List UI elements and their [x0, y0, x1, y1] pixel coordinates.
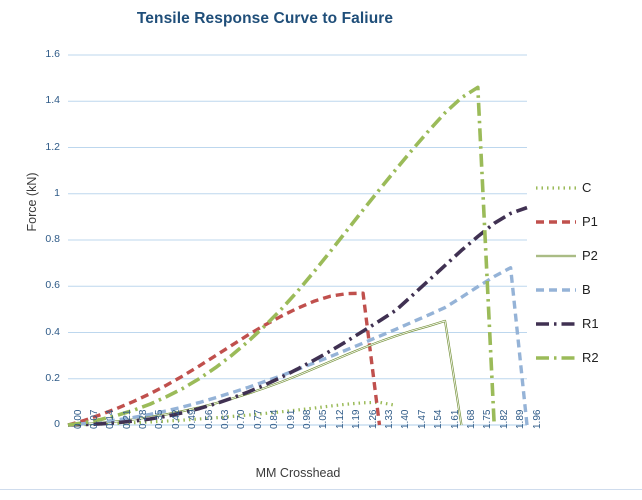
legend-swatch-p1 [535, 215, 577, 227]
x-tick-label: 1.40 [400, 410, 411, 429]
legend-item-r2[interactable]: R2 [535, 340, 635, 374]
x-tick-label: 1.47 [417, 410, 428, 429]
x-tick-label: 1.05 [318, 410, 329, 429]
legend-item-r1[interactable]: R1 [535, 306, 635, 340]
x-tick-label: 1.68 [466, 410, 477, 429]
x-tick-label: 0.07 [89, 410, 100, 429]
y-tick-label: 0.2 [26, 372, 60, 384]
legend-label: R1 [582, 316, 599, 331]
bottom-divider [0, 489, 642, 490]
series-line-r2 [68, 87, 494, 425]
tensile-response-chart: Tensile Response Curve to Faliure Force … [0, 0, 642, 500]
y-tick-label: 1.2 [26, 141, 60, 153]
x-tick-label: 0.28 [138, 410, 149, 429]
x-tick-label: 1.61 [450, 410, 461, 429]
x-tick-label: 1.82 [499, 410, 510, 429]
y-tick-label: 0.6 [26, 279, 60, 291]
x-tick-label: 0.42 [171, 410, 182, 429]
legend-swatch-c [535, 181, 577, 193]
legend-swatch-p2 [535, 249, 577, 261]
x-tick-label: 1.33 [384, 410, 395, 429]
chart-legend: CP1P2BR1R2 [535, 170, 635, 374]
x-tick-label: 1.89 [515, 410, 526, 429]
x-tick-label: 0.56 [204, 410, 215, 429]
x-tick-label: 1.96 [532, 410, 543, 429]
legend-label: P1 [582, 214, 598, 229]
x-tick-label: 0.98 [302, 410, 313, 429]
y-tick-label: 1.4 [26, 94, 60, 106]
legend-item-p1[interactable]: P1 [535, 204, 635, 238]
x-tick-label: 0.84 [269, 410, 280, 429]
x-tick-label: 0.00 [73, 410, 84, 429]
x-tick-label: 0.21 [122, 410, 133, 429]
legend-swatch-r1 [535, 317, 577, 329]
y-tick-label: 0 [26, 418, 60, 430]
series-line-p1 [68, 293, 379, 425]
legend-label: P2 [582, 248, 598, 263]
x-tick-label: 1.54 [433, 410, 444, 429]
x-tick-label: 1.19 [351, 410, 362, 429]
legend-item-p2[interactable]: P2 [535, 238, 635, 272]
x-tick-label: 1.75 [482, 410, 493, 429]
series-layer [68, 87, 527, 425]
legend-swatch-r2 [535, 351, 577, 363]
x-tick-label: 0.14 [105, 410, 116, 429]
y-tick-label: 1 [26, 187, 60, 199]
x-tick-label: 0.63 [220, 410, 231, 429]
x-tick-label: 0.91 [286, 410, 297, 429]
x-tick-label: 0.49 [187, 410, 198, 429]
legend-label: C [582, 180, 591, 195]
legend-item-b[interactable]: B [535, 272, 635, 306]
x-tick-label: 0.35 [154, 410, 165, 429]
x-tick-label: 0.77 [253, 410, 264, 429]
x-tick-label: 1.26 [368, 410, 379, 429]
legend-swatch-b [535, 283, 577, 295]
y-tick-label: 1.6 [26, 48, 60, 60]
legend-label: B [582, 282, 591, 297]
x-tick-label: 1.12 [335, 410, 346, 429]
y-tick-label: 0.8 [26, 233, 60, 245]
legend-label: R2 [582, 350, 599, 365]
x-tick-label: 0.70 [236, 410, 247, 429]
legend-item-c[interactable]: C [535, 170, 635, 204]
y-tick-label: 0.4 [26, 326, 60, 338]
